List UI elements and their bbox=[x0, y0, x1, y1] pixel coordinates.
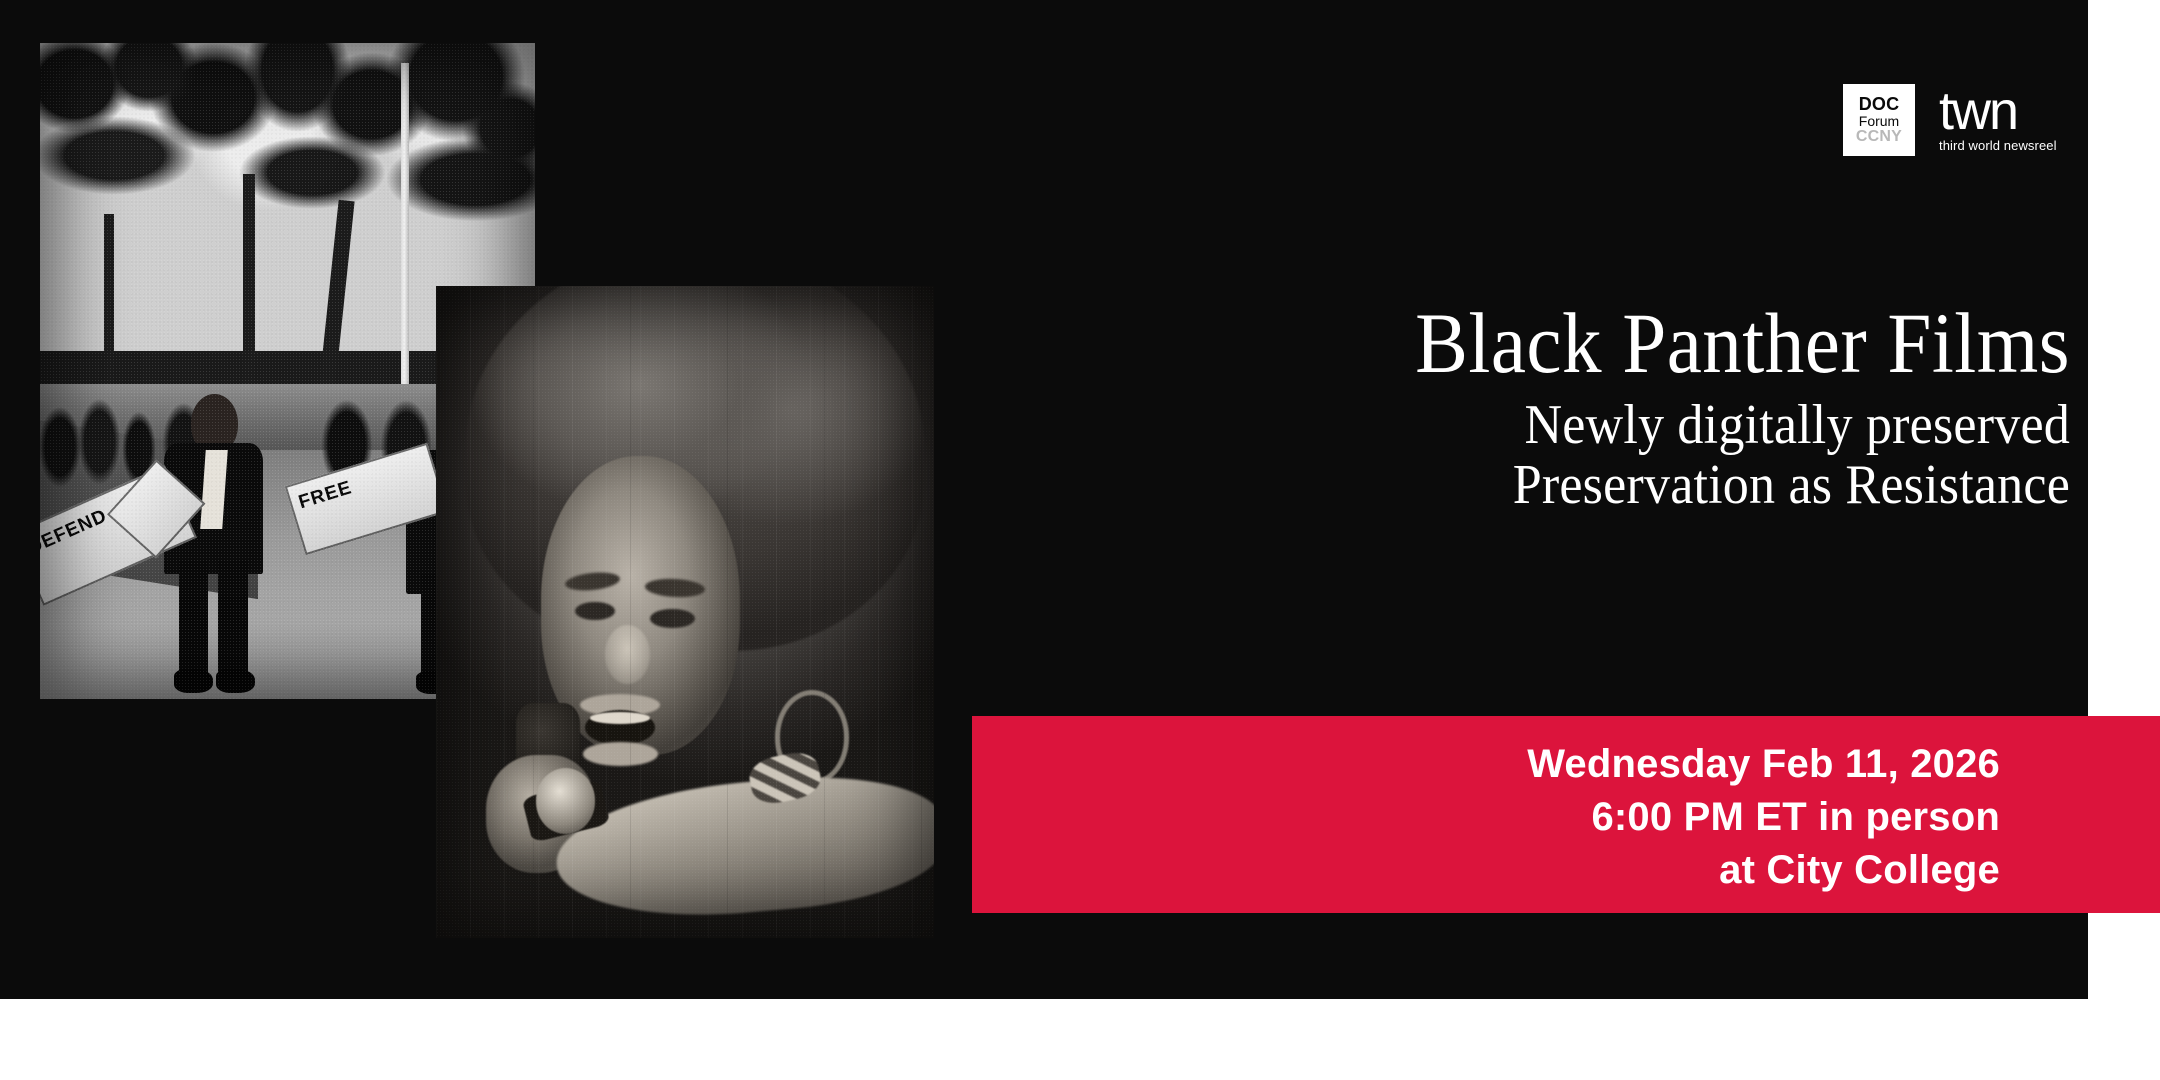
marcher-legs bbox=[218, 561, 248, 679]
poster-canvas: DEFEND FREE bbox=[0, 0, 2160, 1080]
marcher-legs bbox=[179, 561, 209, 679]
event-location: at City College bbox=[1527, 844, 2000, 897]
marcher-shoe bbox=[174, 669, 214, 693]
doc-logo-line-2: Forum bbox=[1859, 114, 1899, 128]
speaker-nose bbox=[605, 625, 650, 684]
title-block: Black Panther Films Newly digitally pres… bbox=[1090, 300, 2070, 517]
doc-logo-line-3: CCNY bbox=[1856, 129, 1902, 145]
subtitle-line-1: Newly digitally preserved bbox=[1159, 394, 2070, 457]
twn-wordmark: twn bbox=[1939, 87, 2017, 137]
speaker-eye bbox=[650, 609, 695, 629]
photo-speaker-film-still bbox=[436, 286, 934, 938]
marcher-shoe bbox=[216, 669, 256, 693]
banner-text: FREE bbox=[297, 477, 356, 514]
event-date: Wednesday Feb 11, 2026 bbox=[1527, 738, 2000, 791]
event-time: 6:00 PM ET in person bbox=[1527, 791, 2000, 844]
third-world-newsreel-logo[interactable]: twn third world newsreel bbox=[1939, 87, 2057, 154]
speaker-lower-lip bbox=[583, 742, 658, 765]
page-title: Black Panther Films bbox=[1168, 300, 2070, 388]
event-details-banner: Wednesday Feb 11, 2026 6:00 PM ET in per… bbox=[972, 716, 2160, 913]
event-details-text: Wednesday Feb 11, 2026 6:00 PM ET in per… bbox=[1527, 738, 2000, 896]
twn-tagline: third world newsreel bbox=[1939, 138, 2057, 153]
doc-forum-ccny-logo[interactable]: DOC Forum CCNY bbox=[1843, 84, 1915, 156]
subtitle-line-2: Preservation as Resistance bbox=[1159, 454, 2070, 517]
doc-logo-line-1: DOC bbox=[1859, 95, 1900, 113]
wristwatch bbox=[536, 768, 596, 833]
logo-row: DOC Forum CCNY twn third world newsreel bbox=[1843, 84, 2057, 156]
